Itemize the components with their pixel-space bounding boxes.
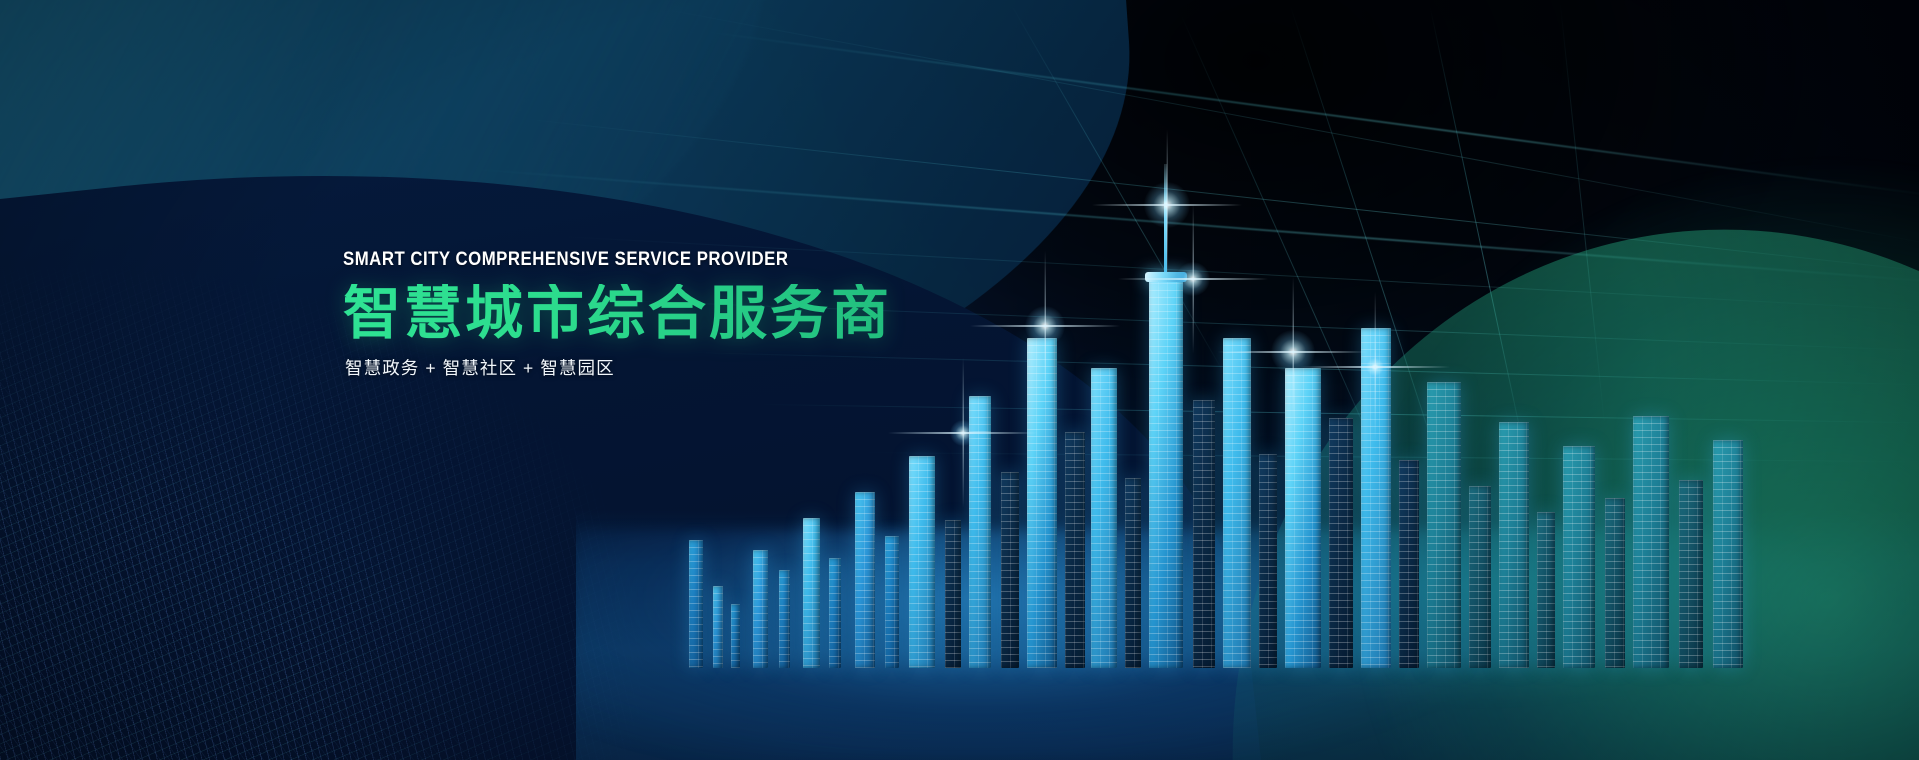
city-building: [1223, 338, 1251, 668]
city-building: [1329, 418, 1353, 668]
city-building: [909, 456, 935, 668]
city-building: [885, 536, 899, 668]
city-building: [1563, 446, 1595, 668]
city-building: [945, 520, 961, 668]
city-building: [1027, 338, 1057, 668]
city-building: [829, 558, 841, 668]
city-building: [803, 518, 820, 668]
city-building: [779, 570, 790, 668]
city-building: [1091, 368, 1117, 668]
city-building: [753, 550, 768, 668]
spire-tower-crown: [1145, 272, 1187, 282]
city-building: [731, 604, 740, 668]
city-building: [1399, 460, 1419, 668]
city-building: [1499, 422, 1529, 668]
city-building: [1125, 478, 1141, 668]
city-building: [1537, 512, 1555, 668]
city-building: [1193, 400, 1215, 668]
city-building: [969, 396, 991, 668]
eyebrow-tagline: SMART CITY COMPREHENSIVE SERVICE PROVIDE…: [343, 250, 962, 270]
spire-tower-antenna: [1164, 164, 1167, 276]
smart-city-banner: SMART CITY COMPREHENSIVE SERVICE PROVIDE…: [0, 0, 1919, 760]
city-building: [689, 540, 703, 668]
city-building: [1149, 276, 1183, 668]
city-building: [1679, 480, 1703, 668]
headline-copy-block: SMART CITY COMPREHENSIVE SERVICE PROVIDE…: [343, 250, 1063, 377]
city-building: [1259, 454, 1277, 668]
city-building: [1605, 498, 1625, 668]
page-title: 智慧城市综合服务商: [343, 284, 1063, 344]
city-building: [1469, 486, 1491, 668]
lens-flare: [1144, 182, 1190, 228]
city-building: [1713, 440, 1743, 668]
city-building: [1633, 416, 1669, 668]
city-building: [1285, 368, 1321, 668]
city-building: [1065, 432, 1085, 668]
city-building: [855, 492, 875, 668]
city-building: [1427, 382, 1461, 668]
city-building: [1361, 328, 1391, 668]
city-building: [713, 586, 723, 668]
city-building: [1001, 472, 1019, 668]
subtitle-services: 智慧政务 + 智慧社区 + 智慧园区: [345, 360, 1063, 378]
